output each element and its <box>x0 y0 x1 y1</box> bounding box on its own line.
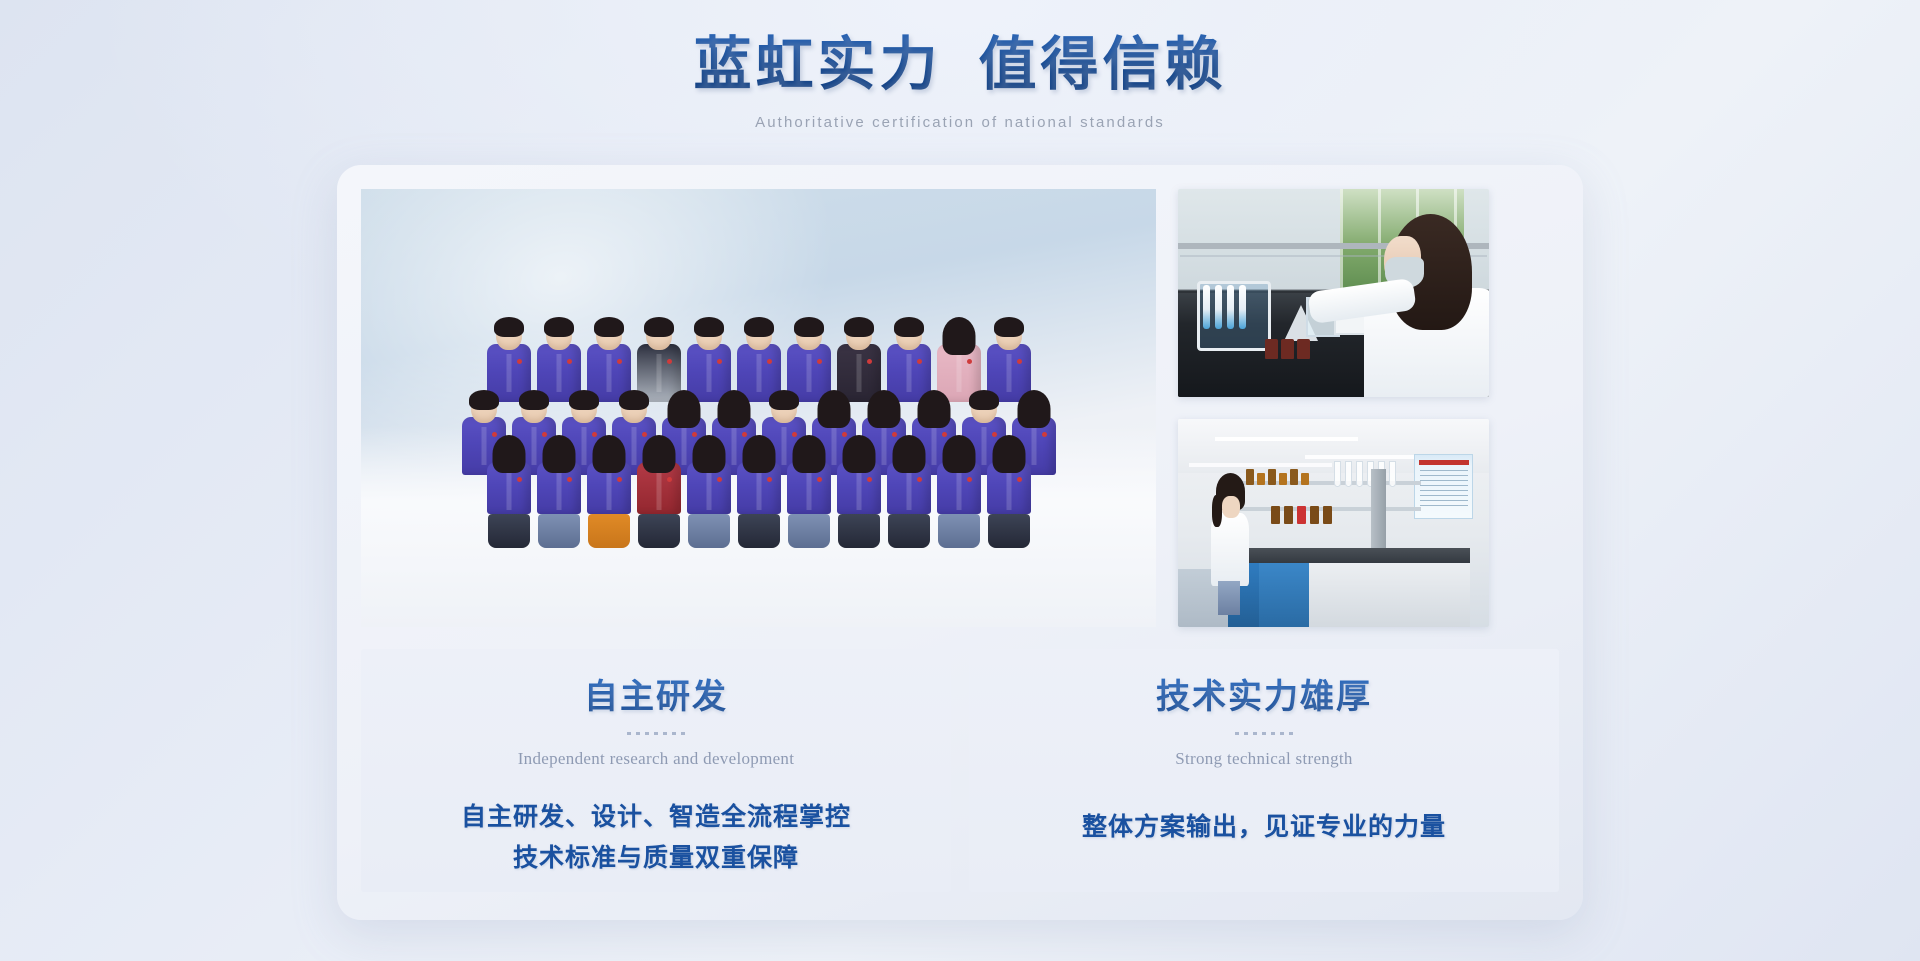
team-member <box>687 438 731 548</box>
team-member <box>737 320 781 402</box>
team-member <box>787 438 831 548</box>
feature-cards-row: 自主研发 Independent research and developmen… <box>361 649 1559 892</box>
card-subtitle: Independent research and development <box>385 747 927 771</box>
page-title: 蓝虹实力 值得信赖 <box>0 30 1920 100</box>
team-member <box>887 320 931 402</box>
content-panel: 自主研发 Independent research and developmen… <box>337 165 1583 920</box>
team-member <box>587 320 631 402</box>
team-member <box>637 320 681 402</box>
page-header: 蓝虹实力 值得信赖 Authoritative certification of… <box>0 0 1920 133</box>
card-body-text: 整体方案输出，见证专业的力量 <box>993 808 1535 849</box>
safety-poster <box>1414 454 1473 518</box>
pipette-set <box>1203 285 1246 329</box>
card-body-text: 自主研发、设计、智造全流程掌控 技术标准与质量双重保障 <box>385 798 927 879</box>
blue-cabinet-mid <box>1259 563 1309 627</box>
laboratory-room-photo <box>1178 419 1489 627</box>
team-members-group <box>361 268 1156 548</box>
team-member <box>487 438 531 548</box>
team-member <box>887 438 931 548</box>
researcher-face <box>1222 496 1240 519</box>
grey-cabinet <box>1309 563 1471 627</box>
card-subtitle: Strong technical strength <box>993 747 1535 771</box>
page-subtitle: Authoritative certification of national … <box>0 112 1920 133</box>
card-title: 技术实力雄厚 <box>993 677 1535 720</box>
team-member <box>837 320 881 402</box>
lab-technician-photo <box>1178 189 1489 397</box>
island-bench-top <box>1222 548 1471 563</box>
team-member <box>637 438 681 548</box>
team-group-photo <box>361 189 1156 627</box>
dotted-divider-icon <box>627 732 685 735</box>
feature-card-technical-strength[interactable]: 技术实力雄厚 Strong technical strength 整体方案输出，… <box>969 649 1559 892</box>
team-member <box>487 320 531 402</box>
team-member <box>537 320 581 402</box>
team-member <box>937 438 981 548</box>
team-member <box>937 320 981 402</box>
team-member <box>587 438 631 548</box>
team-member <box>687 320 731 402</box>
team-member <box>987 438 1031 548</box>
card-title: 自主研发 <box>385 677 927 720</box>
team-member <box>787 320 831 402</box>
feature-card-independent-rd[interactable]: 自主研发 Independent research and developmen… <box>361 649 951 892</box>
lab-technician <box>1352 210 1489 397</box>
team-member <box>837 438 881 548</box>
team-member <box>987 320 1031 402</box>
reagent-bottles <box>1265 339 1310 359</box>
team-member <box>737 438 781 548</box>
lab-researcher <box>1206 473 1253 614</box>
side-gallery <box>1178 189 1489 627</box>
dotted-divider-icon <box>1235 732 1293 735</box>
reagent-row-lower <box>1271 506 1332 524</box>
team-member <box>537 438 581 548</box>
gallery-row <box>361 189 1559 627</box>
reagent-row-upper <box>1246 469 1309 485</box>
researcher-legs <box>1218 581 1240 615</box>
